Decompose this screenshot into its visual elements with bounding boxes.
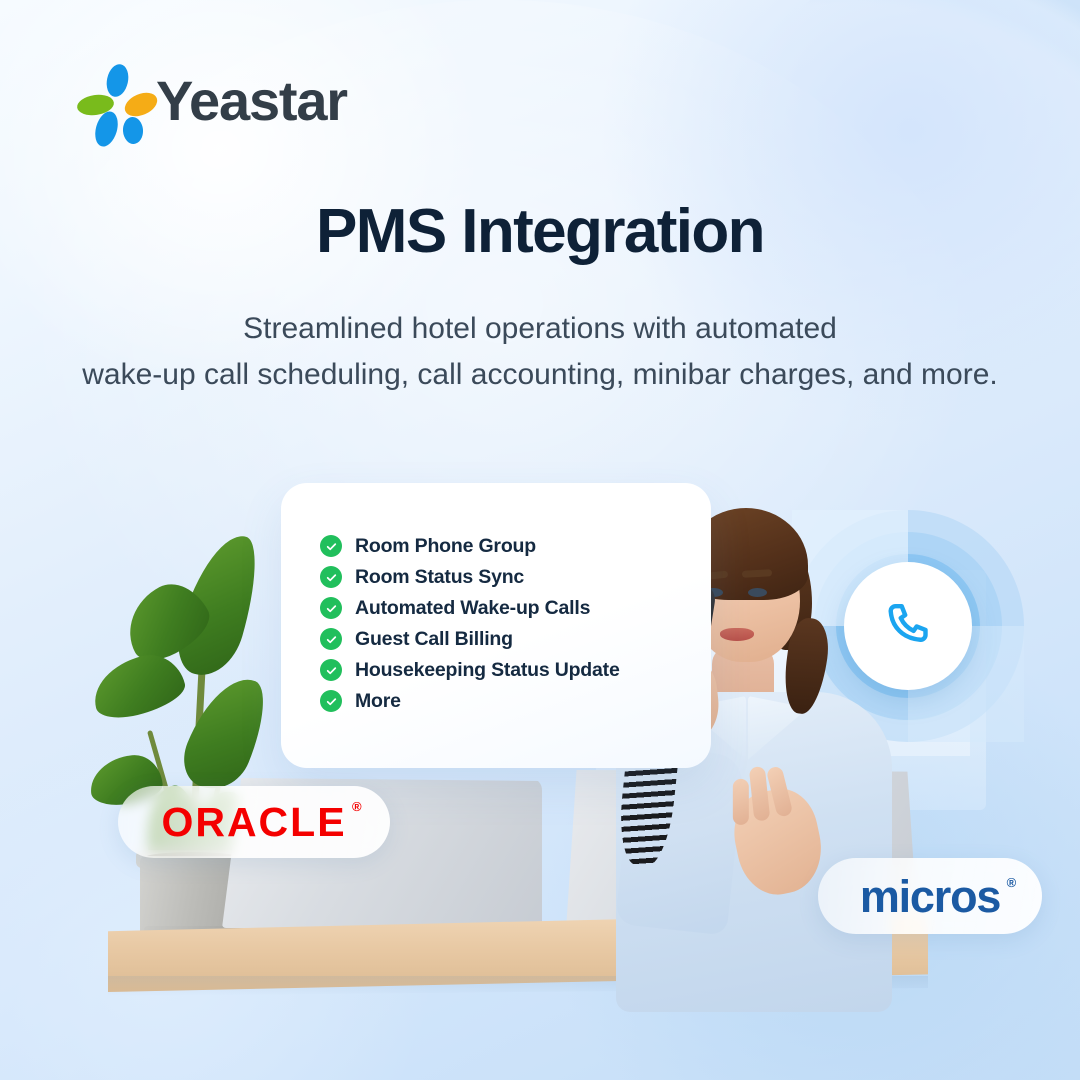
feature-label: More (355, 690, 401, 713)
feature-label: Guest Call Billing (355, 628, 513, 651)
brand-logo: Yeastar (78, 64, 347, 138)
feature-label: Housekeeping Status Update (355, 659, 620, 682)
feature-label: Automated Wake-up Calls (355, 597, 590, 620)
check-circle-icon (320, 628, 342, 650)
person-lips (720, 628, 754, 641)
oracle-registered-mark: ® (352, 800, 362, 813)
feature-card: Room Phone Group Room Status Sync (281, 483, 711, 768)
micros-wordmark: micros ® (860, 874, 1000, 919)
oracle-label: ORACLE (161, 799, 346, 845)
page-title: PMS Integration (0, 196, 1080, 267)
plant-leaf-3 (87, 648, 190, 725)
list-item: Automated Wake-up Calls (320, 597, 693, 619)
check-icon (325, 695, 338, 708)
page-subtitle: Streamlined hotel operations with automa… (0, 306, 1080, 397)
check-circle-icon (320, 659, 342, 681)
feature-label: Room Phone Group (355, 535, 536, 558)
micros-label: micros (860, 871, 1000, 922)
check-circle-icon (320, 535, 342, 557)
list-item: Room Status Sync (320, 566, 693, 588)
feature-list: Room Phone Group Room Status Sync (320, 535, 693, 712)
finger-1 (733, 779, 749, 825)
check-icon (325, 602, 338, 615)
check-icon (325, 664, 338, 677)
check-icon (325, 633, 338, 646)
illustration-scene: Room Phone Group Room Status Sync (0, 440, 1080, 1040)
check-circle-icon (320, 566, 342, 588)
logo-petal-right (121, 88, 161, 121)
check-circle-icon (320, 597, 342, 619)
partner-badge-oracle: ORACLE ® (118, 786, 390, 858)
list-item: Guest Call Billing (320, 628, 693, 650)
list-item: Room Phone Group (320, 535, 693, 557)
oracle-wordmark: ORACLE ® (161, 802, 346, 843)
poster-canvas: Yeastar PMS Integration Streamlined hote… (0, 0, 1080, 1080)
check-icon (325, 540, 338, 553)
micros-registered-mark: ® (1007, 876, 1017, 889)
feature-label: Room Status Sync (355, 566, 524, 589)
subtitle-line-1: Streamlined hotel operations with automa… (0, 306, 1080, 352)
yeastar-flower-logo-icon (78, 64, 142, 138)
brand-wordmark: Yeastar (156, 73, 347, 129)
partner-badge-micros: micros ® (818, 858, 1042, 934)
person-eye-right (748, 588, 767, 597)
check-circle-icon (320, 690, 342, 712)
list-item: More (320, 690, 693, 712)
list-item: Housekeeping Status Update (320, 659, 693, 681)
subtitle-line-2: wake-up call scheduling, call accounting… (0, 352, 1080, 398)
check-icon (325, 571, 338, 584)
logo-petal-top (104, 62, 131, 99)
